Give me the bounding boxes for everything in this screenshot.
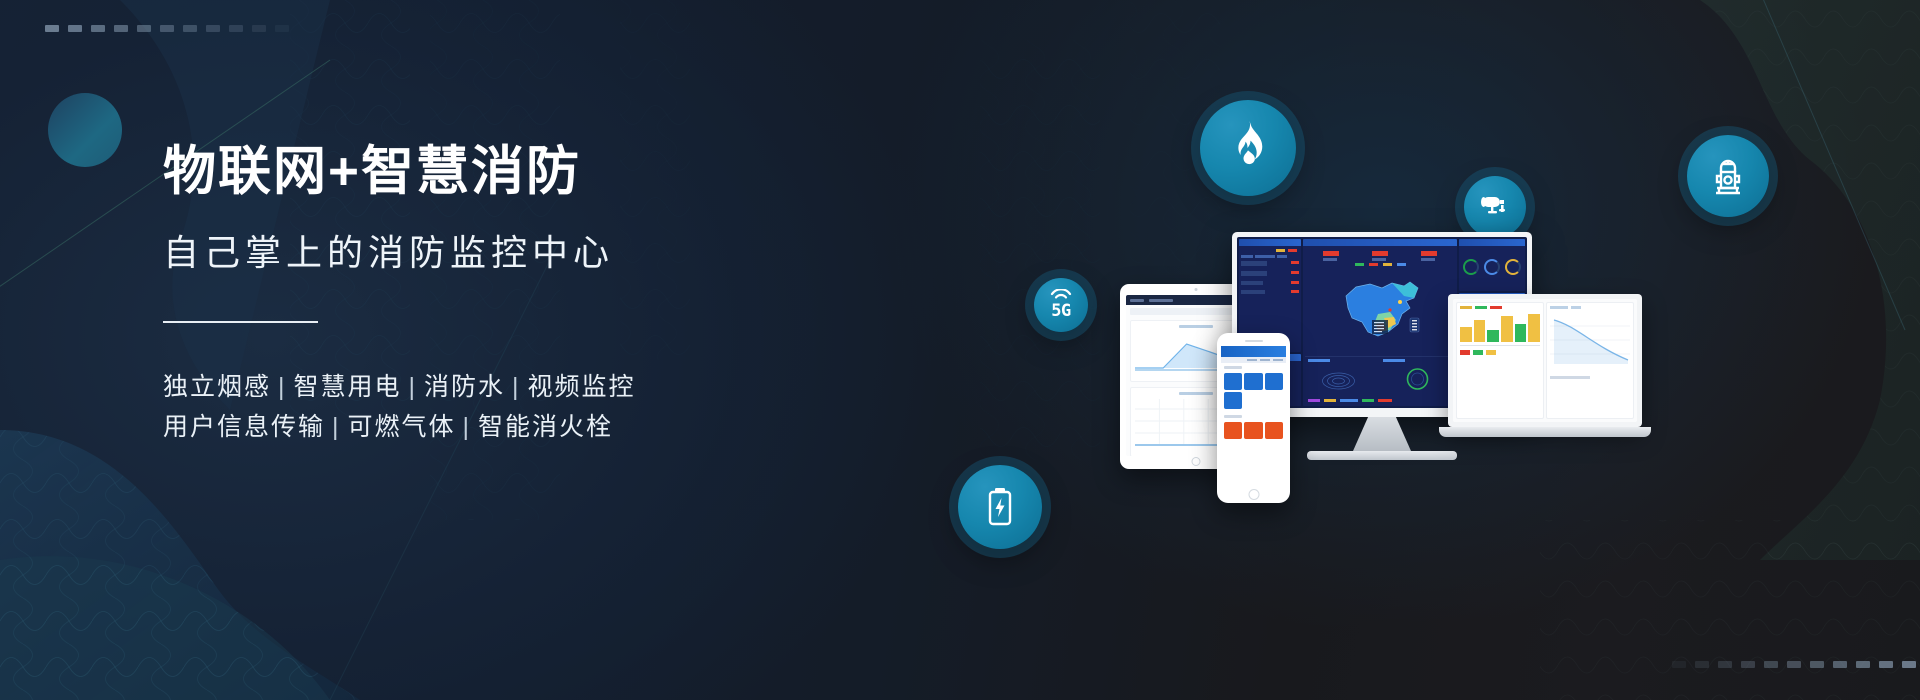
decor-dash: [160, 25, 174, 32]
decor-dash: [91, 25, 105, 32]
device-phone: [1217, 333, 1290, 503]
widget-china-map: [1303, 239, 1457, 406]
feature-line: 独立烟感|智慧用电|消防水|视频监控: [163, 367, 863, 408]
device-laptop: [1448, 294, 1660, 464]
decor-dash: [114, 25, 128, 32]
cctv-icon[interactable]: [1464, 176, 1526, 238]
laptop-decline-chart: [1550, 312, 1630, 368]
phone-card[interactable]: [1265, 373, 1283, 390]
phone-speaker: [1245, 340, 1263, 342]
phone-section-label-1: [1224, 366, 1242, 369]
decor-dash: [1856, 661, 1870, 668]
phone-home-button: [1248, 489, 1259, 500]
laptop-screen: [1453, 299, 1637, 422]
feature-item: 智慧用电: [294, 373, 402, 401]
dashboard-center-column: [1303, 239, 1457, 406]
device-mockups: [1120, 232, 1660, 482]
monitor-base: [1307, 451, 1457, 460]
hydrant-glyph: [1709, 154, 1747, 198]
laptop-line-panel: [1546, 302, 1634, 419]
radar-chart-right: [1383, 365, 1452, 391]
laptop-base: [1439, 427, 1651, 437]
5g-label: 5G: [1051, 301, 1070, 321]
decor-dash: [1879, 661, 1893, 668]
decor-dash: [1672, 661, 1686, 668]
phone-subnav: [1221, 357, 1286, 363]
tablet-camera: [1195, 288, 1198, 291]
decor-dash-row-bottom: [1672, 661, 1916, 668]
decor-dash: [1695, 661, 1709, 668]
phone-section-label-2: [1224, 415, 1242, 418]
decor-dash: [275, 25, 289, 32]
page-subtitle: 自己掌上的消防监控中心: [163, 224, 863, 276]
widget-gauges: [1459, 239, 1525, 291]
feature-list: 独立烟感|智慧用电|消防水|视频监控用户信息传输|可燃气体|智能消火栓: [163, 367, 863, 448]
feature-item: 用户信息传输: [163, 413, 325, 441]
battery-icon[interactable]: [958, 465, 1042, 549]
china-map-svg: [1332, 274, 1428, 348]
decor-dash: [229, 25, 243, 32]
decor-dash: [68, 25, 82, 32]
flame-glyph: [1224, 121, 1272, 175]
feature-separator: |: [456, 413, 479, 441]
feature-separator: |: [402, 373, 425, 401]
title-divider: [163, 321, 318, 323]
laptop-bar-panel: [1456, 302, 1544, 419]
hydrant-icon[interactable]: [1687, 135, 1769, 217]
radar-chart-left: [1308, 365, 1377, 391]
decor-dash: [45, 25, 59, 32]
phone-card[interactable]: [1224, 422, 1242, 439]
decor-dash: [1787, 661, 1801, 668]
hero-text-block: 物联网+智慧消防 自己掌上的消防监控中心 独立烟感|智慧用电|消防水|视频监控用…: [163, 140, 863, 448]
feature-item: 视频监控: [528, 373, 636, 401]
laptop-bar-series: [1460, 312, 1540, 342]
decor-circle-left: [48, 93, 122, 167]
decor-dash-row-top: [45, 25, 289, 32]
cctv-glyph: [1479, 193, 1511, 221]
gauge-1: [1463, 259, 1479, 275]
feature-item: 独立烟感: [163, 373, 271, 401]
phone-screen: [1221, 346, 1286, 489]
decor-dash: [1833, 661, 1847, 668]
phone-card[interactable]: [1265, 422, 1283, 439]
5g-icon[interactable]: 5G: [1034, 278, 1088, 332]
china-map-graphic: [1305, 268, 1455, 354]
flame-icon[interactable]: [1200, 100, 1296, 196]
decor-dash: [1718, 661, 1732, 668]
laptop-lid: [1448, 294, 1642, 427]
feature-separator: |: [271, 373, 294, 401]
decor-dash: [1764, 661, 1778, 668]
decor-dash: [1902, 661, 1916, 668]
decor-dash: [183, 25, 197, 32]
battery-glyph: [985, 486, 1015, 528]
phone-app-header: [1221, 346, 1286, 357]
feature-item: 消防水: [424, 373, 505, 401]
phone-card[interactable]: [1224, 392, 1242, 409]
decor-dash: [1741, 661, 1755, 668]
tablet-home-button: [1192, 457, 1201, 466]
decor-dash: [1810, 661, 1824, 668]
gauge-2: [1484, 259, 1500, 275]
phone-card[interactable]: [1224, 373, 1242, 390]
gauge-3: [1505, 259, 1521, 275]
decor-dash: [252, 25, 266, 32]
feature-item: 可燃气体: [348, 413, 456, 441]
feature-line: 用户信息传输|可燃气体|智能消火栓: [163, 407, 863, 448]
decor-dash: [137, 25, 151, 32]
phone-card-grid-orange: [1221, 419, 1286, 442]
wifi-glyph: [1050, 289, 1072, 300]
monitor-stand: [1353, 417, 1411, 451]
feature-item: 智能消火栓: [478, 413, 613, 441]
feature-separator: |: [325, 413, 348, 441]
feature-separator: |: [505, 373, 528, 401]
decor-dash: [206, 25, 220, 32]
hero-banner: 物联网+智慧消防 自己掌上的消防监控中心 独立烟感|智慧用电|消防水|视频监控用…: [0, 0, 1920, 700]
phone-card[interactable]: [1244, 422, 1262, 439]
phone-card-grid-blue: [1221, 370, 1286, 412]
phone-card[interactable]: [1244, 373, 1262, 390]
page-title: 物联网+智慧消防: [163, 140, 863, 205]
